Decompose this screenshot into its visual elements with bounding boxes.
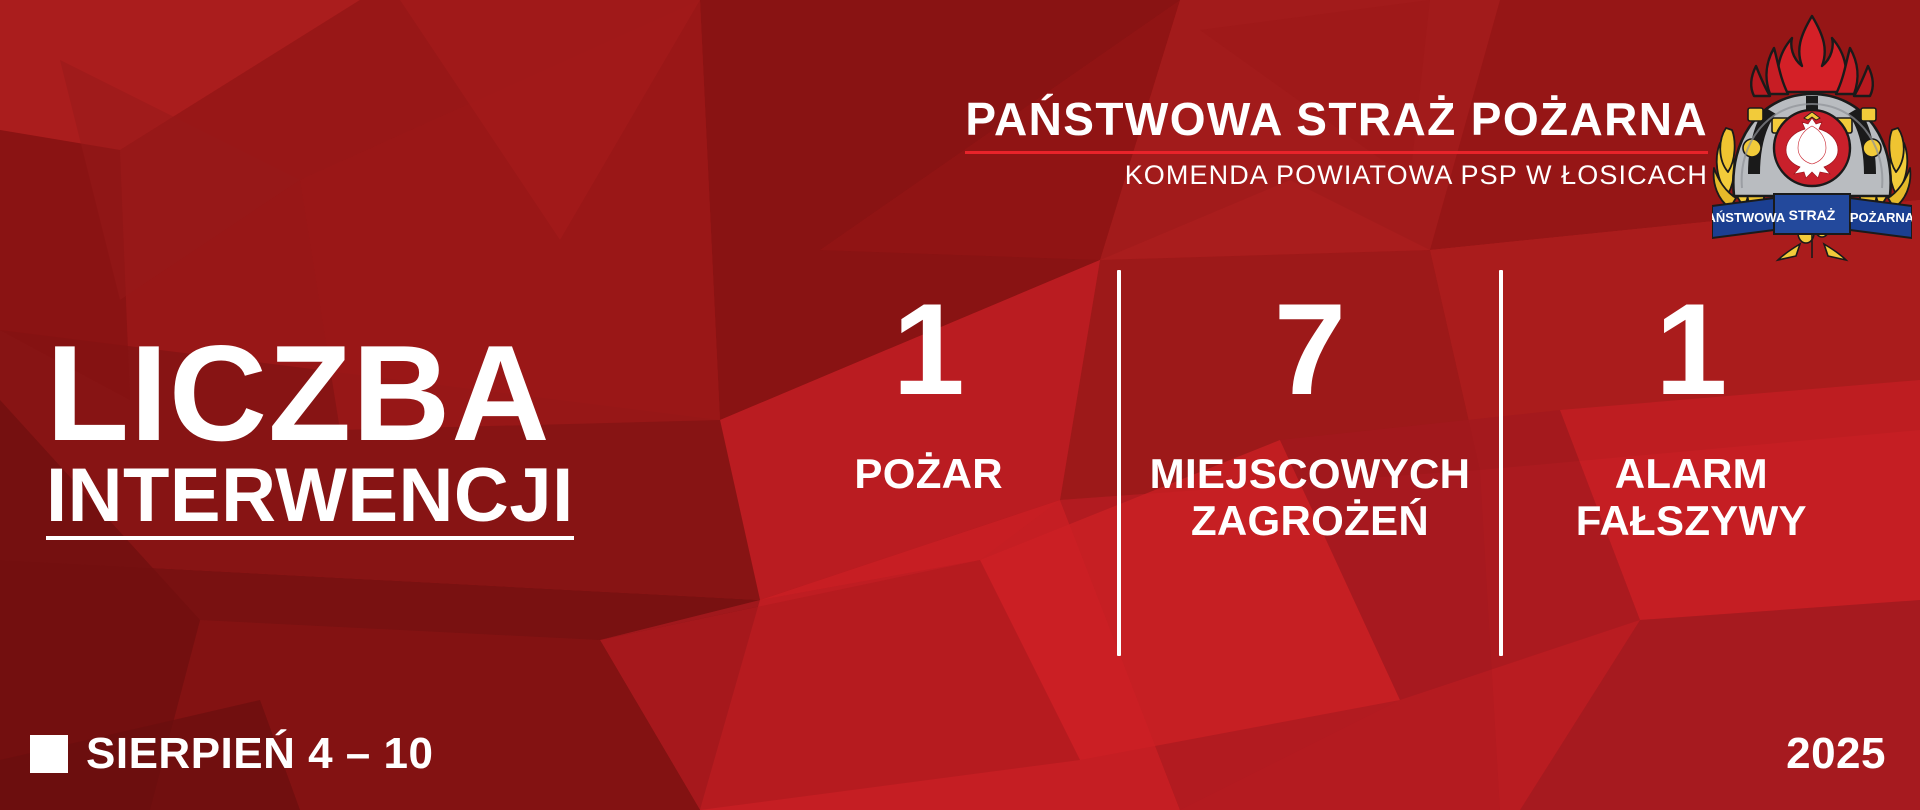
emblem-banner-right: POŻARNA — [1850, 210, 1912, 225]
stat-label: ALARMFAŁSZYWY — [1576, 450, 1807, 544]
footer-bar: SIERPIEŃ 4 – 10 2025 — [0, 724, 1920, 784]
psp-emblem-icon: PAŃSTWOWA STRAŻ POŻARNA — [1712, 8, 1912, 263]
emblem-banner-center: STRAŻ — [1789, 207, 1836, 223]
square-bullet-icon — [30, 735, 68, 773]
year-label: 2025 — [1786, 729, 1886, 779]
stat-item-local-hazards: 7 MIEJSCOWYCHZAGROŻEŃ — [1121, 280, 1498, 680]
period-label: SIERPIEŃ 4 – 10 — [86, 729, 433, 779]
organization-subtitle: KOMENDA POWIATOWA PSP W ŁOSICACH — [965, 160, 1708, 191]
headline-block: LICZBA INTERWENCJI — [46, 330, 574, 540]
footer-period-group: SIERPIEŃ 4 – 10 — [30, 729, 433, 779]
stat-value: 1 — [893, 284, 965, 414]
stat-item-false-alarms: 1 ALARMFAŁSZYWY — [1503, 280, 1880, 680]
stat-label: POŻAR — [854, 450, 1003, 497]
stat-item-fires: 1 POŻAR — [740, 280, 1117, 680]
title-underline-rule — [965, 151, 1708, 154]
headline-secondary: INTERWENCJI — [46, 458, 574, 540]
stat-label: MIEJSCOWYCHZAGROŻEŃ — [1150, 450, 1471, 544]
emblem-banner-left: PAŃSTWOWA — [1712, 210, 1786, 225]
stat-value: 1 — [1655, 284, 1727, 414]
stat-value: 7 — [1274, 284, 1346, 414]
headline-primary: LICZBA — [46, 330, 574, 458]
psp-statistics-banner: PAŃSTWOWA STRAŻ POŻARNA KOMENDA POWIATOW… — [0, 0, 1920, 810]
organization-title: PAŃSTWOWA STRAŻ POŻARNA — [965, 96, 1708, 144]
header-block: PAŃSTWOWA STRAŻ POŻARNA KOMENDA POWIATOW… — [965, 96, 1708, 191]
statistics-row: 1 POŻAR 7 MIEJSCOWYCHZAGROŻEŃ 1 ALARMFAŁ… — [740, 280, 1880, 680]
